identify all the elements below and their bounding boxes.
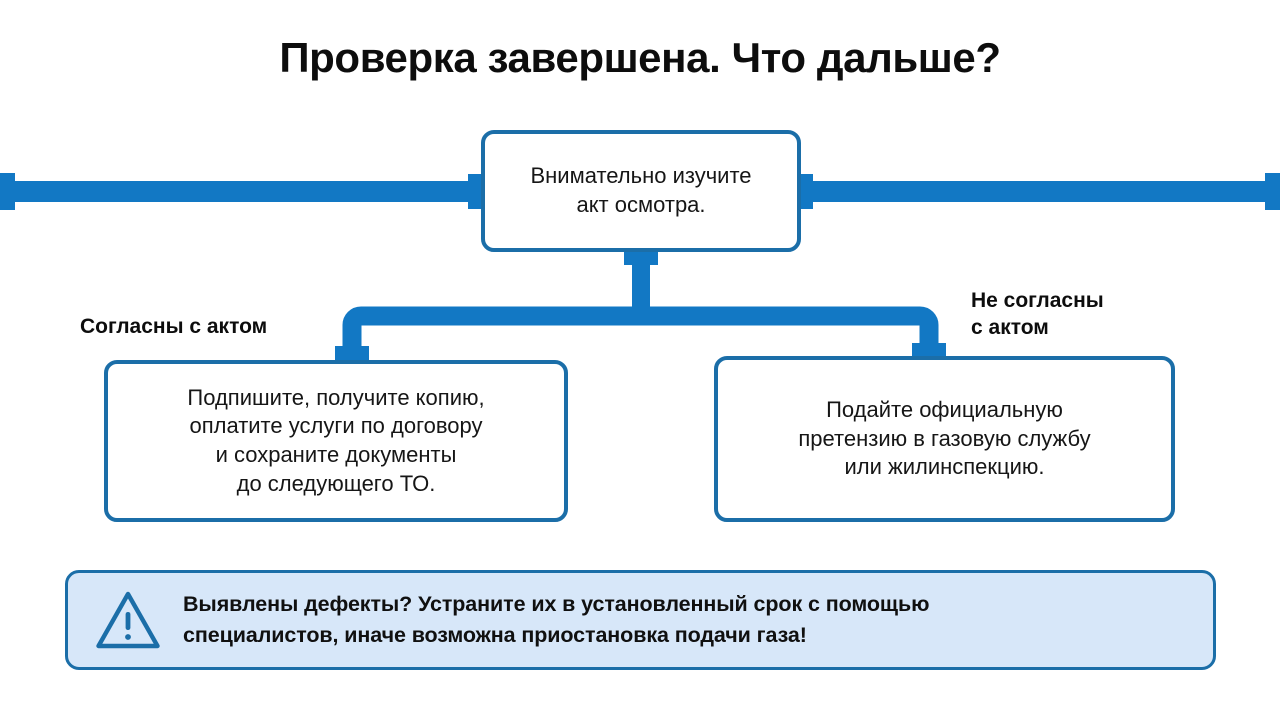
warning-triangle-icon	[95, 589, 161, 651]
branch-left-flange	[335, 346, 369, 361]
page-title: Проверка завершена. Что дальше?	[0, 34, 1280, 82]
node-agree[interactable]: Подпишите, получите копию, оплатите услу…	[104, 360, 568, 522]
rail-right-endcap	[1265, 173, 1280, 210]
node-study-act-text: Внимательно изучите акт осмотра.	[518, 162, 763, 219]
rail-left-segment	[0, 181, 482, 202]
stem-vertical	[632, 251, 650, 307]
rail-right-segment	[799, 181, 1280, 202]
node-disagree-text: Подайте официальную претензию в газовую …	[786, 396, 1102, 482]
branch-label-agree: Согласны с актом	[80, 313, 267, 340]
node-disagree[interactable]: Подайте официальную претензию в газовую …	[714, 356, 1175, 522]
warning-banner-text: Выявлены дефекты? Устраните их в установ…	[183, 589, 929, 650]
node-study-act[interactable]: Внимательно изучите акт осмотра.	[481, 130, 801, 252]
rail-left-endcap	[0, 173, 15, 210]
warning-banner: Выявлены дефекты? Устраните их в установ…	[65, 570, 1216, 670]
branch-label-disagree: Не согласны с актом	[971, 287, 1104, 342]
node-agree-text: Подпишите, получите копию, оплатите услу…	[175, 384, 496, 498]
slide-canvas: Проверка завершена. Что дальше?	[0, 0, 1280, 714]
stem-top-flange	[624, 251, 658, 265]
